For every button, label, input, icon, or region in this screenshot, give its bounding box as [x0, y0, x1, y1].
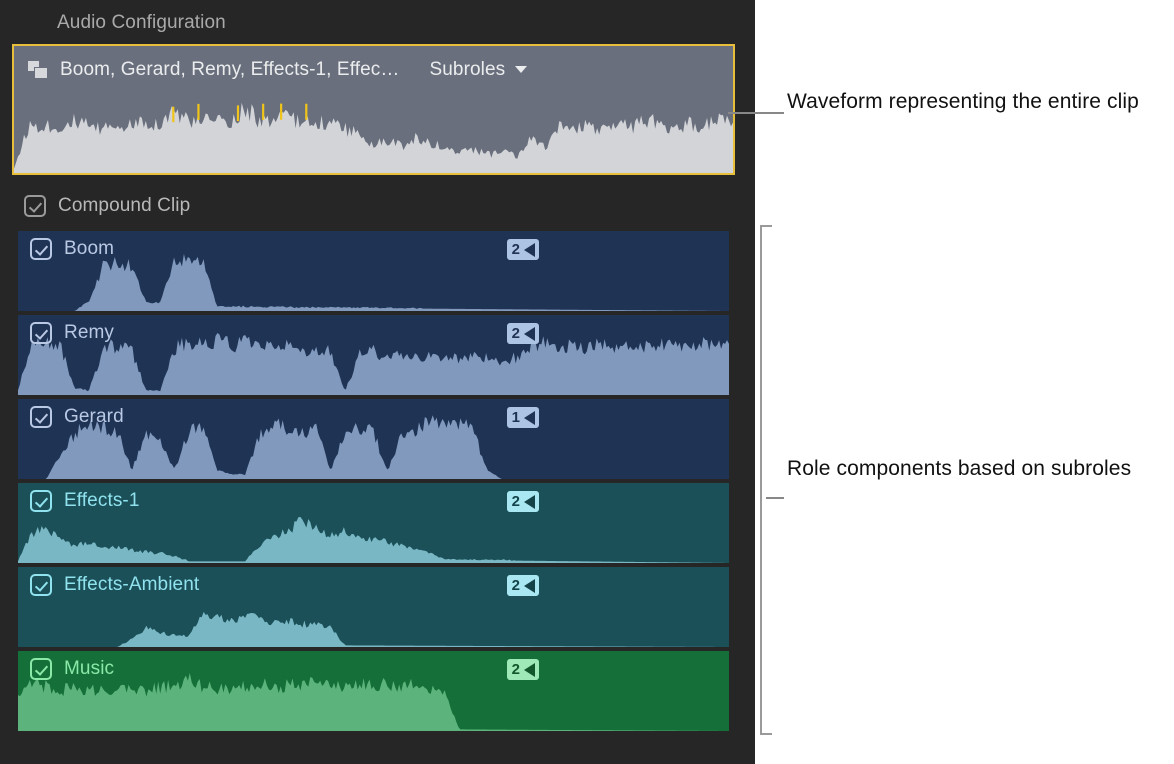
role-component-row[interactable]: Effects-12 — [18, 483, 729, 563]
channel-count-value: 2 — [512, 578, 520, 593]
channel-count-value: 2 — [512, 242, 520, 257]
role-component-label: Effects-1 — [64, 490, 140, 512]
compound-clip-label: Compound Clip — [58, 195, 190, 217]
master-clip-selected[interactable]: Boom, Gerard, Remy, Effects-1, Effec… Su… — [12, 44, 735, 175]
role-component-header: Boom2 — [18, 231, 729, 267]
master-clip-roles-summary: Boom, Gerard, Remy, Effects-1, Effec… — [60, 59, 399, 81]
channel-count-badge[interactable]: 2 — [507, 659, 539, 680]
channel-count-badge[interactable]: 2 — [507, 323, 539, 344]
speaker-icon — [524, 663, 535, 677]
speaker-icon — [524, 327, 535, 341]
callout-leader-line-waveform — [728, 112, 784, 114]
audio-configuration-panel: Audio Configuration Boom, Gerard, Remy, … — [0, 0, 755, 764]
role-component-label: Effects-Ambient — [64, 574, 199, 596]
role-component-header: Remy2 — [18, 315, 729, 351]
channel-count-badge[interactable]: 2 — [507, 575, 539, 596]
channel-count-badge[interactable]: 2 — [507, 239, 539, 260]
chevron-down-icon — [515, 66, 527, 73]
compound-clip-icon — [28, 61, 48, 79]
role-component-row[interactable]: Remy2 — [18, 315, 729, 395]
channel-count-value: 1 — [512, 410, 520, 425]
role-component-header: Effects-12 — [18, 483, 729, 519]
role-component-row[interactable]: Boom2 — [18, 231, 729, 311]
speaker-icon — [524, 579, 535, 593]
role-component-header: Effects-Ambient2 — [18, 567, 729, 603]
page-title: Audio Configuration — [57, 12, 226, 34]
role-component-checkbox[interactable] — [30, 658, 52, 680]
role-component-checkbox[interactable] — [30, 238, 52, 260]
callout-waveform-text: Waveform representing the entire clip — [787, 88, 1167, 116]
role-component-label: Music — [64, 658, 114, 680]
callout-bracket-role-components — [760, 225, 772, 735]
role-component-label: Gerard — [64, 406, 124, 428]
role-component-checkbox[interactable] — [30, 490, 52, 512]
speaker-icon — [524, 411, 535, 425]
role-component-header: Music2 — [18, 651, 729, 687]
channel-count-value: 2 — [512, 494, 520, 509]
role-component-row[interactable]: Music2 — [18, 651, 729, 731]
channel-count-badge[interactable]: 1 — [507, 407, 539, 428]
master-clip-header: Boom, Gerard, Remy, Effects-1, Effec… Su… — [14, 46, 733, 93]
channel-count-badge[interactable]: 2 — [507, 491, 539, 512]
channel-count-value: 2 — [512, 326, 520, 341]
channel-count-value: 2 — [512, 662, 520, 677]
callout-role-components-text: Role components based on subroles — [787, 455, 1167, 483]
callout-leader-line-role-components — [766, 497, 784, 499]
role-component-checkbox[interactable] — [30, 322, 52, 344]
compound-clip-row[interactable]: Compound Clip — [12, 185, 735, 227]
role-component-label: Boom — [64, 238, 114, 260]
role-component-header: Gerard1 — [18, 399, 729, 435]
role-component-row[interactable]: Effects-Ambient2 — [18, 567, 729, 647]
master-waveform — [14, 93, 733, 175]
role-component-label: Remy — [64, 322, 114, 344]
compound-clip-checkbox[interactable] — [24, 195, 46, 217]
role-component-checkbox[interactable] — [30, 406, 52, 428]
role-components-list: Boom2Remy2Gerard1Effects-12Effects-Ambie… — [18, 231, 729, 735]
role-component-row[interactable]: Gerard1 — [18, 399, 729, 479]
speaker-icon — [524, 495, 535, 509]
subroles-dropdown[interactable]: Subroles — [429, 59, 527, 81]
speaker-icon — [524, 243, 535, 257]
role-component-checkbox[interactable] — [30, 574, 52, 596]
subroles-label: Subroles — [429, 59, 505, 81]
